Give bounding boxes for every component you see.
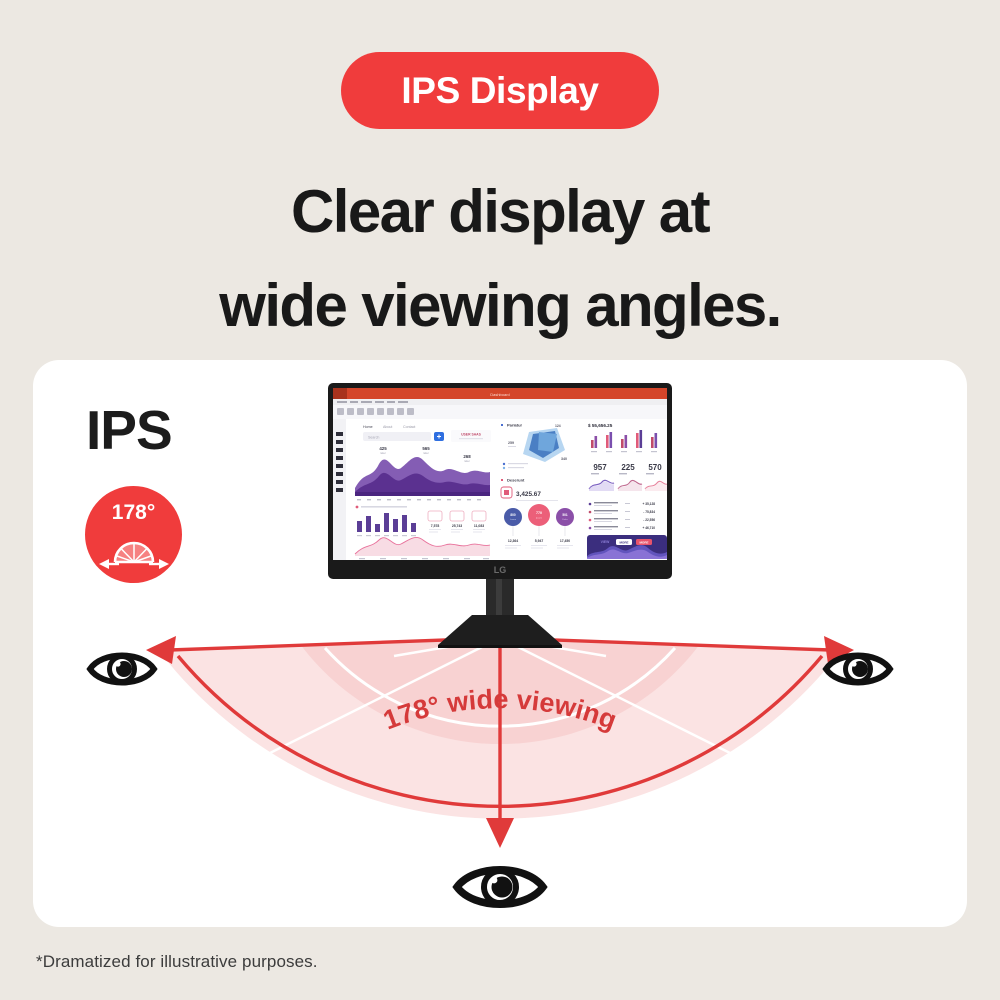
svg-text:25,743: 25,743 <box>452 524 462 528</box>
monitor: LG Dashboard <box>320 383 680 648</box>
page-title: Clear display at wide viewing angles. <box>0 165 1000 353</box>
svg-text:11,083: 11,083 <box>474 524 484 528</box>
svg-text:Ipsum: Ipsum <box>536 518 542 520</box>
svg-text:565: 565 <box>422 446 430 451</box>
lg-logo: LG <box>494 565 507 575</box>
svg-text:268: 268 <box>463 454 471 459</box>
svg-text:$ 55,656.25: $ 55,656.25 <box>588 423 613 428</box>
svg-text:Deserunt: Deserunt <box>507 478 525 483</box>
svg-text:7,578: 7,578 <box>431 524 440 528</box>
svg-text:Dashboard: Dashboard <box>490 392 510 397</box>
svg-text:label: label <box>464 460 470 463</box>
svg-text:770: 770 <box>536 511 542 515</box>
svg-text:+ 46,710: + 46,710 <box>643 526 656 530</box>
svg-text:+ 35,128: + 35,128 <box>643 502 656 506</box>
headline-line-2: wide viewing angles. <box>0 259 1000 353</box>
svg-text:Search: Search <box>368 436 379 440</box>
svg-text:label: label <box>380 452 386 455</box>
svg-text:340: 340 <box>561 457 567 461</box>
svg-text:Home: Home <box>363 425 373 429</box>
svg-text:MORE: MORE <box>640 541 649 545</box>
svg-text:Pariatur: Pariatur <box>507 423 523 428</box>
svg-text:USER SAAS: USER SAAS <box>461 433 482 437</box>
badge-label: IPS Display <box>401 70 598 112</box>
svg-text:12,364: 12,364 <box>508 539 518 543</box>
svg-text:Dolor: Dolor <box>562 518 567 521</box>
svg-text:957: 957 <box>593 463 607 472</box>
ips-display-badge: IPS Display <box>341 52 659 129</box>
svg-text:About: About <box>383 425 392 429</box>
svg-text:- 22,556: - 22,556 <box>643 518 655 522</box>
eye-bottom-icon <box>452 856 548 918</box>
viewing-angle-value: 178° <box>85 501 182 525</box>
svg-text:MORE: MORE <box>620 541 629 545</box>
svg-text:Contact: Contact <box>403 425 415 429</box>
svg-text:3,425.67: 3,425.67 <box>516 491 541 498</box>
svg-text:VIEW: VIEW <box>601 540 610 544</box>
footnote: *Dramatized for illustrative purposes. <box>36 952 318 972</box>
eye-left-icon <box>86 645 158 693</box>
svg-text:Lorem: Lorem <box>510 518 516 521</box>
svg-text:800: 800 <box>510 513 516 517</box>
svg-text:label: label <box>423 452 429 455</box>
svg-text:501: 501 <box>562 513 568 517</box>
svg-text:- 75,834: - 75,834 <box>643 510 655 514</box>
svg-text:5,947: 5,947 <box>535 539 544 543</box>
svg-text:570: 570 <box>648 463 662 472</box>
eye-right-icon <box>822 645 894 693</box>
marketing-graphic: IPS Display Clear display at wide viewin… <box>0 0 1000 1000</box>
svg-text:225: 225 <box>621 463 635 472</box>
svg-text:425: 425 <box>379 446 387 451</box>
svg-text:124: 124 <box>555 424 561 428</box>
ips-label: IPS <box>86 398 172 462</box>
svg-text:17,450: 17,450 <box>560 539 570 543</box>
headline-line-1: Clear display at <box>291 178 709 245</box>
svg-text:259: 259 <box>508 441 514 445</box>
